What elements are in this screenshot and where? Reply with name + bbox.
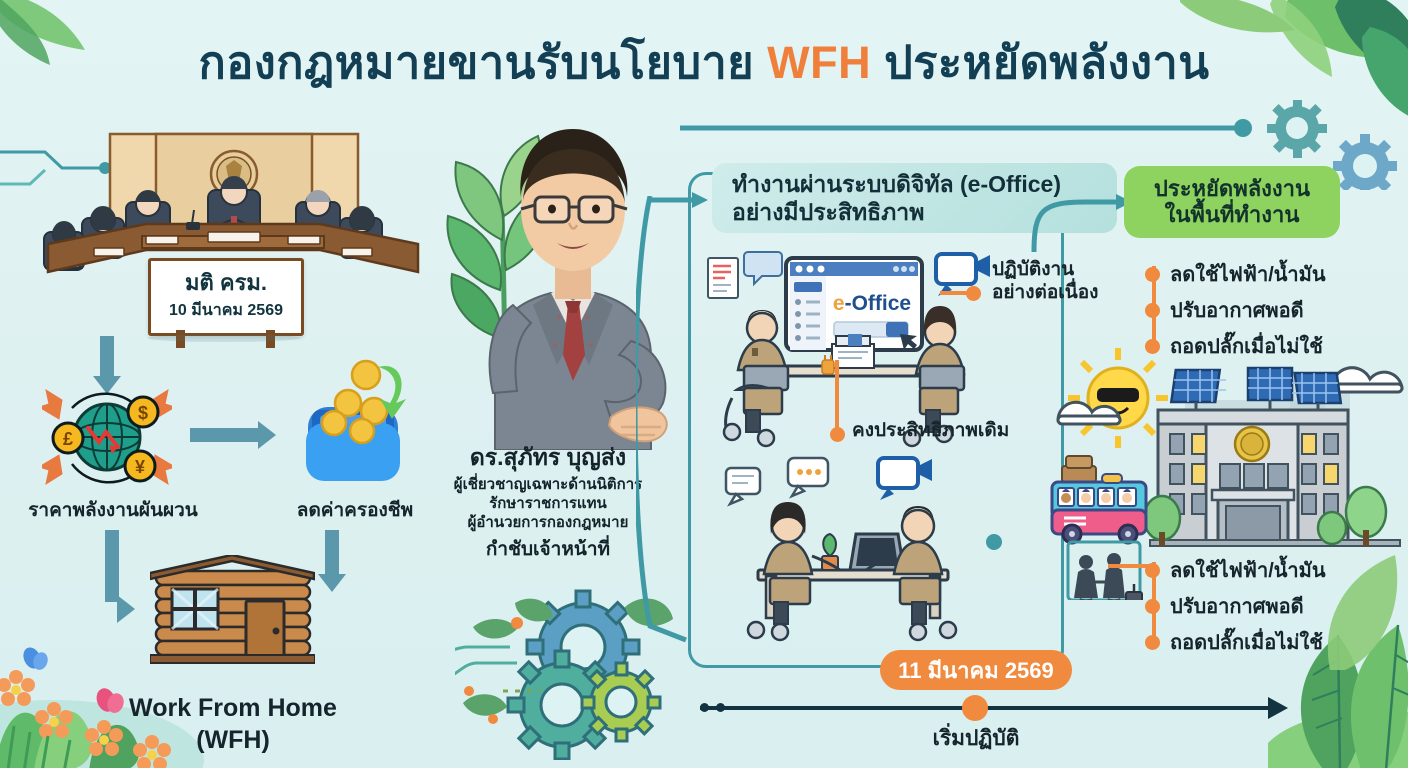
pipe-person-loop-bottom: [636, 196, 696, 656]
timeline-leading-dot-2: [716, 703, 725, 712]
title-highlight: WFH: [767, 37, 871, 88]
bullet-item: ลดใช้ไฟฟ้า/น้ำมัน: [1145, 554, 1326, 586]
energy-price-label: ราคาพลังงานผันผวน: [8, 495, 218, 525]
bullet-text: ปรับอากาศพอดี: [1170, 590, 1304, 622]
svg-text:£: £: [63, 429, 73, 449]
title-part1: กองกฎหมายขานรับนโยบาย: [198, 37, 767, 88]
anno-continuous-line: [940, 291, 970, 295]
timeline-caption: เริ่มปฏิบัติ: [860, 722, 1092, 755]
bullet-dot-icon: [1145, 267, 1160, 282]
anno-continuous-line2: อย่างต่อเนื่อง: [992, 281, 1142, 304]
arrow-energy-down-head: [117, 595, 135, 623]
work-from-home-house-icon: [150, 555, 315, 667]
energy-price-globe-icon: $ £ ¥: [42, 382, 172, 492]
bullet-item: ปรับอากาศพอดี: [1145, 294, 1326, 326]
bullet-dot-icon: [1145, 599, 1160, 614]
energy-saving-header-line2: ในพื้นที่ทำงาน: [1165, 202, 1300, 228]
pipe-eoffice-to-saving: [1024, 190, 1134, 260]
anno-continuous-label: ปฏิบัติงาน อย่างต่อเนื่อง: [992, 258, 1142, 304]
wfh-label-line1: Work From Home: [108, 694, 358, 723]
bullet-text: ปรับอากาศพอดี: [1170, 294, 1304, 326]
bullet-item: ถอดปลั๊กเมื่อไม่ใช้: [1145, 626, 1326, 658]
bullet-item: ลดใช้ไฟฟ้า/น้ำมัน: [1145, 258, 1326, 290]
svg-text:¥: ¥: [135, 457, 145, 477]
energy-saving-bullets-bottom: ลดใช้ไฟฟ้า/น้ำมัน ปรับอากาศพอดี ถอดปลั๊ก…: [1145, 554, 1326, 662]
eoffice-meeting-scene-bottom: [716, 452, 996, 652]
bullet-text: ลดใช้ไฟฟ้า/น้ำมัน: [1170, 258, 1326, 290]
svg-text:$: $: [138, 403, 148, 423]
arrow-wallet-down-shaft: [325, 530, 339, 576]
anno-efficiency-line: [835, 360, 839, 430]
resolution-date: 10 มีนาคม 2569: [169, 298, 283, 323]
page-title: กองกฎหมายขานรับนโยบาย WFH ประหยัดพลังงาน: [0, 38, 1408, 88]
sign-shadow: [148, 334, 300, 342]
timeline-node: [962, 695, 988, 721]
top-connector-pipe: [680, 118, 1280, 138]
arrow-cabinet-to-energy-shaft: [100, 336, 114, 378]
title-part2: ประหยัดพลังงาน: [871, 37, 1209, 88]
resolution-title: มติ ครม.: [185, 272, 267, 294]
bullet-item: ปรับอากาศพอดี: [1145, 590, 1326, 622]
infographic-canvas: กองกฎหมายขานรับนโยบาย WFH ประหยัดพลังงาน: [0, 0, 1408, 768]
bullet-dot-icon: [1145, 303, 1160, 318]
arrow-energy-to-wallet-head: [258, 421, 276, 449]
cabinet-resolution-sign: มติ ครม. 10 มีนาคม 2569: [148, 258, 304, 336]
energy-saving-header-line1: ประหยัดพลังงาน: [1154, 176, 1310, 202]
timeline-arrow-head: [1268, 697, 1288, 719]
arrow-energy-to-wallet-shaft: [190, 428, 260, 442]
bullet-dot-icon: [1145, 563, 1160, 578]
timeline-date-text: 11 มีนาคม 2569: [898, 653, 1054, 688]
bullet-text: ลดใช้ไฟฟ้า/น้ำมัน: [1170, 554, 1326, 586]
energy-saving-header: ประหยัดพลังงาน ในพื้นที่ทำงาน: [1124, 166, 1340, 238]
timeline-leading-dot-1: [700, 703, 709, 712]
arrow-wallet-down-head: [318, 574, 346, 592]
arrow-energy-down-shaft: [105, 530, 119, 602]
svg-text:e-Office: e-Office: [833, 292, 911, 315]
eoffice-meeting-scene-top: e-Office: [700, 248, 1000, 448]
bullet-text: ถอดปลั๊กเมื่อไม่ใช้: [1170, 626, 1323, 658]
wfh-label-line2: (WFH): [108, 726, 358, 755]
cost-of-living-wallet-icon: [300, 355, 410, 490]
anno-continuous-line1: ปฏิบัติงาน: [992, 258, 1142, 281]
bullet-dot-icon: [1145, 635, 1160, 650]
timeline-date-badge: 11 มีนาคม 2569: [880, 650, 1072, 690]
